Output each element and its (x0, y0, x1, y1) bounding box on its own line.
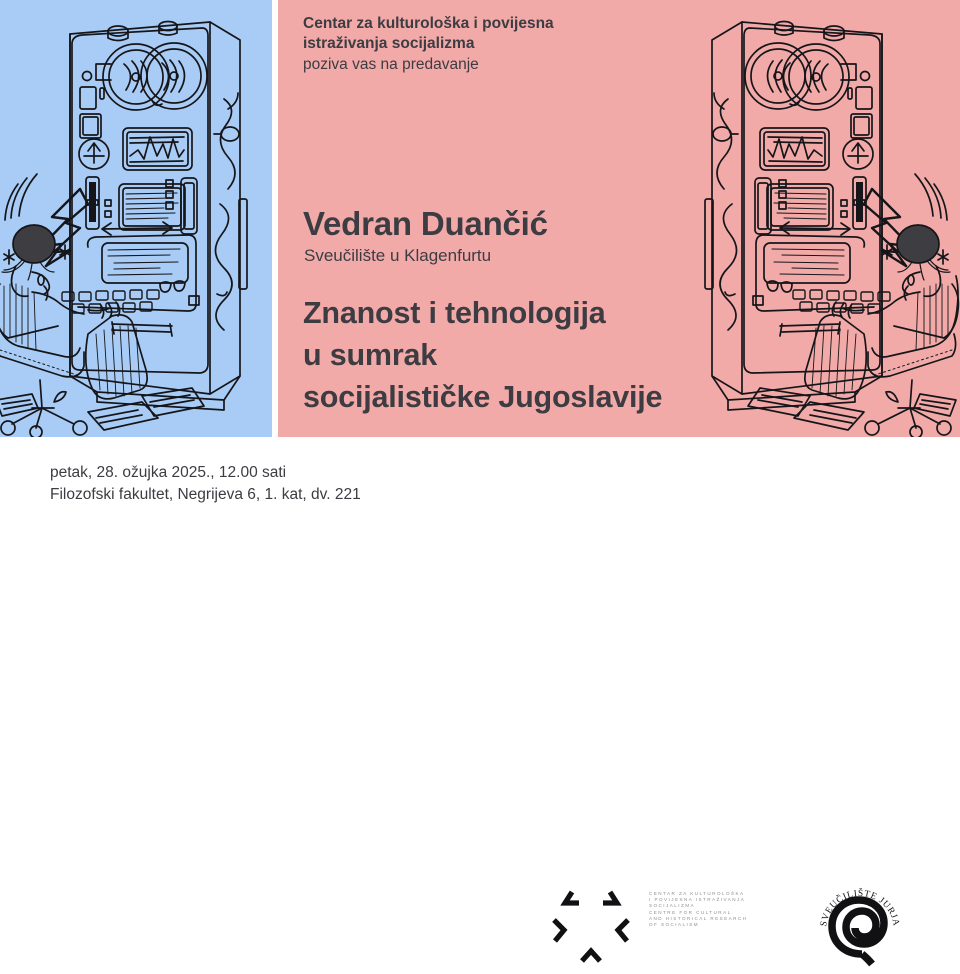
computer-operator-illustration-left (0, 4, 272, 437)
centre-en-line-3: OF SOCIALISM (649, 922, 799, 928)
poster-canvas: Centar za kulturološka i povijesna istra… (0, 0, 960, 540)
blue-illustration-panel (0, 0, 272, 437)
lecture-title-line-1: Znanost i tehnologija (303, 292, 743, 334)
lecture-title-line-2: u sumrak (303, 334, 743, 376)
centre-name-block: CENTAR ZA KULTUROLOŠKA I POVIJESNA ISTRA… (649, 891, 799, 928)
lecture-title: Znanost i tehnologija u sumrak socijalis… (303, 292, 743, 418)
lecture-title-line-3: socijalističke Jugoslavije (303, 376, 743, 418)
speaker-affiliation: Sveučilište u Klagenfurtu (304, 246, 491, 266)
poster-text-block: Centar za kulturološka i povijesna istra… (303, 0, 733, 437)
star-bracket-logo-icon (548, 885, 634, 969)
organizer-kicker: Centar za kulturološka i povijesna istra… (303, 14, 723, 75)
event-details: petak, 28. ožujka 2025., 12.00 sati Filo… (50, 462, 361, 506)
organizer-line-2: istraživanja socijalizma (303, 34, 723, 54)
event-venue: Filozofski fakultet, Negrijeva 6, 1. kat… (50, 484, 361, 506)
university-spiral-logo-icon: SVEUČILIŠTE JURJA DOBRILE U PULI (812, 880, 908, 974)
poster-footer: petak, 28. ožujka 2025., 12.00 sati Filo… (0, 437, 960, 540)
event-datetime: petak, 28. ožujka 2025., 12.00 sati (50, 462, 361, 484)
poster-top-band: Centar za kulturološka i povijesna istra… (0, 0, 960, 437)
speaker-name: Vedran Duančić (303, 205, 548, 243)
invite-line: poziva vas na predavanje (303, 55, 723, 75)
organizer-line-1: Centar za kulturološka i povijesna (303, 14, 723, 34)
